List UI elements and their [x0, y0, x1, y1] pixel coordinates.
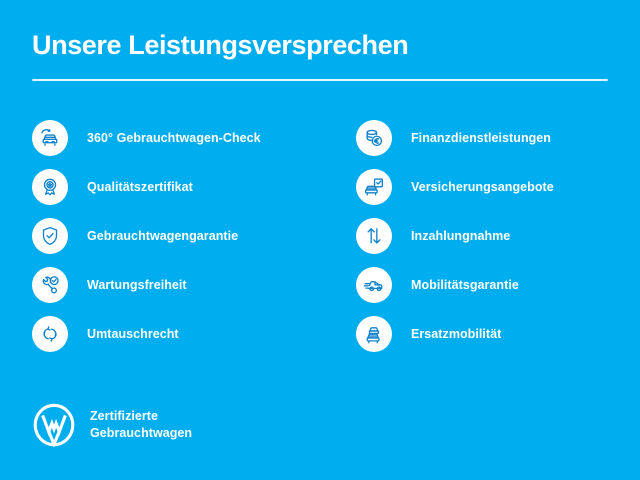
list-item-label: Umtauschrecht — [87, 327, 179, 342]
slide-root: Unsere Leistungsversprechen — [0, 0, 640, 480]
brand-line-2: Gebrauchtwagen — [90, 425, 192, 442]
promises-columns: 360° Gebrauchtwagen-Check Qualitätszerti… — [32, 120, 608, 352]
award-rosette-icon — [32, 169, 68, 205]
list-item[interactable]: 360° Gebrauchtwagen-Check — [32, 120, 356, 156]
list-item[interactable]: Umtauschrecht — [32, 316, 356, 352]
list-item[interactable]: Finanzdienstleistungen — [356, 120, 608, 156]
promises-right-column: Finanzdienstleistungen Versicherungsange… — [356, 120, 608, 352]
list-item-label: Ersatzmobilität — [411, 327, 501, 342]
exchange-arrows-icon — [32, 316, 68, 352]
list-item-label: Inzahlungnahme — [411, 229, 510, 244]
title-divider — [32, 79, 608, 81]
wrench-check-icon — [32, 267, 68, 303]
volkswagen-logo-icon — [32, 403, 76, 447]
list-item[interactable]: Wartungsfreiheit — [32, 267, 356, 303]
brand-lockup: Zertifizierte Gebrauchtwagen — [32, 403, 192, 447]
list-item[interactable]: Ersatzmobilität — [356, 316, 608, 352]
list-item-label: Qualitätszertifikat — [87, 180, 193, 195]
list-item-label: Wartungsfreiheit — [87, 278, 187, 293]
two-cars-icon — [356, 316, 392, 352]
brand-line-1: Zertifizierte — [90, 408, 192, 425]
car-motion-icon — [356, 267, 392, 303]
list-item[interactable]: Gebrauchtwagengarantie — [32, 218, 356, 254]
shield-check-icon — [32, 218, 68, 254]
list-item-label: Gebrauchtwagengarantie — [87, 229, 238, 244]
list-item-label: Finanzdienstleistungen — [411, 131, 551, 146]
list-item[interactable]: Versicherungsangebote — [356, 169, 608, 205]
list-item[interactable]: Qualitätszertifikat — [32, 169, 356, 205]
car-inspection-icon — [32, 120, 68, 156]
page-title: Unsere Leistungsversprechen — [32, 30, 608, 61]
list-item-label: 360° Gebrauchtwagen-Check — [87, 131, 261, 146]
list-item[interactable]: Inzahlungnahme — [356, 218, 608, 254]
list-item[interactable]: Mobilitätsgarantie — [356, 267, 608, 303]
brand-text: Zertifizierte Gebrauchtwagen — [90, 408, 192, 442]
list-item-label: Versicherungsangebote — [411, 180, 554, 195]
header: Unsere Leistungsversprechen — [32, 30, 608, 81]
list-item-label: Mobilitätsgarantie — [411, 278, 519, 293]
up-down-arrows-icon — [356, 218, 392, 254]
promises-left-column: 360° Gebrauchtwagen-Check Qualitätszerti… — [32, 120, 356, 352]
car-document-icon — [356, 169, 392, 205]
coins-euro-icon — [356, 120, 392, 156]
